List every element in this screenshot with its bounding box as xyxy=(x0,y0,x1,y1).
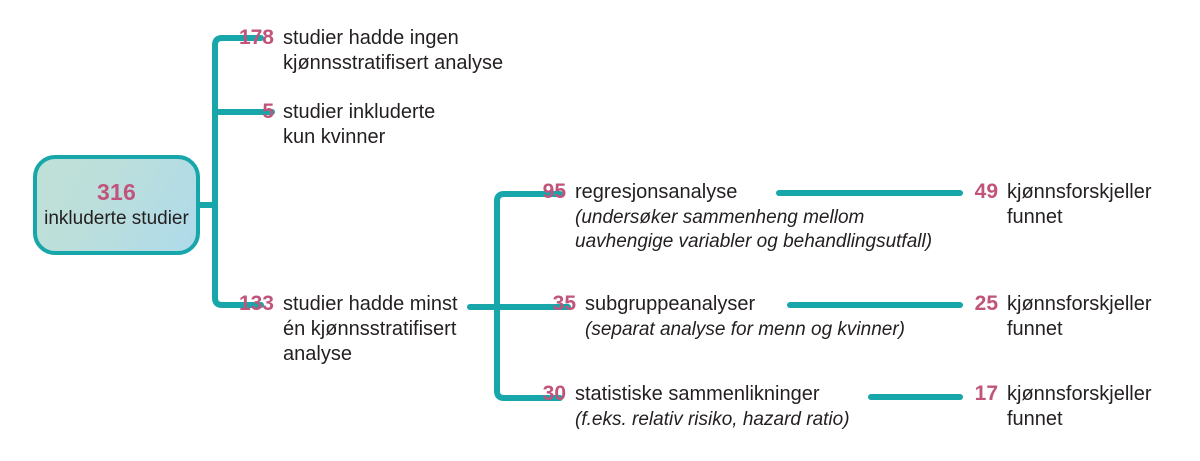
sub-branch-number-30: 30 xyxy=(530,382,566,406)
branch-body-178: studier hadde ingen kjønnsstratifisert a… xyxy=(283,26,528,76)
branch-item-5: 5 studier inkluderte kun kvinner xyxy=(238,100,528,150)
outcome-text-17: kjønnsforskjeller funnet xyxy=(1007,382,1188,432)
branch-number-178: 178 xyxy=(228,26,274,50)
outcome-body-17: kjønnsforskjeller funnet xyxy=(1007,382,1188,432)
left-bracket-path xyxy=(215,38,261,305)
branch-body-5: studier inkluderte kun kvinner xyxy=(283,100,528,150)
sub-branch-number-95: 95 xyxy=(530,180,566,204)
sub-branch-note-30: (f.eks. relativ risiko, hazard ratio) xyxy=(575,408,950,432)
branch-body-133: studier hadde minst én kjønnsstratifiser… xyxy=(283,292,518,367)
sub-branch-text-95: regresjonsanalyse xyxy=(575,180,950,205)
sub-branch-body-95: regresjonsanalyse (undersøker sammenheng… xyxy=(575,180,950,254)
outcome-text-25: kjønnsforskjeller funnet xyxy=(1007,292,1188,342)
branch-text-178: studier hadde ingen kjønnsstratifisert a… xyxy=(283,26,528,76)
sub-branch-item-30: 30 statistiske sammenlikninger (f.eks. r… xyxy=(530,382,950,432)
branch-text-5: studier inkluderte kun kvinner xyxy=(283,100,528,150)
branch-item-178: 178 studier hadde ingen kjønnsstratifise… xyxy=(228,26,528,76)
outcome-number-49: 49 xyxy=(968,180,998,204)
sub-branch-text-30: statistiske sammenlikninger xyxy=(575,382,950,407)
outcome-item-25: 25 kjønnsforskjeller funnet xyxy=(968,292,1188,342)
sub-branch-body-35: subgruppeanalyser (separat analyse for m… xyxy=(585,292,950,342)
branch-item-133: 133 studier hadde minst én kjønnsstratif… xyxy=(228,292,518,367)
outcome-number-25: 25 xyxy=(968,292,998,316)
outcome-text-49: kjønnsforskjeller funnet xyxy=(1007,180,1188,230)
branch-number-5: 5 xyxy=(238,100,274,124)
sub-branch-number-35: 35 xyxy=(540,292,576,316)
sub-branch-note-95: (undersøker sammenheng mellom uavhengige… xyxy=(575,206,950,254)
root-node-included-studies: 316 inkluderte studier xyxy=(33,155,200,255)
outcome-number-17: 17 xyxy=(968,382,998,406)
outcome-body-49: kjønnsforskjeller funnet xyxy=(1007,180,1188,230)
branch-number-133: 133 xyxy=(228,292,274,316)
outcome-item-49: 49 kjønnsforskjeller funnet xyxy=(968,180,1188,230)
outcome-item-17: 17 kjønnsforskjeller funnet xyxy=(968,382,1188,432)
sub-branch-body-30: statistiske sammenlikninger (f.eks. rela… xyxy=(575,382,950,432)
sub-branch-item-35: 35 subgruppeanalyser (separat analyse fo… xyxy=(540,292,950,342)
sub-branch-note-35: (separat analyse for menn og kvinner) xyxy=(585,318,950,342)
root-node-number: 316 xyxy=(97,179,136,207)
root-node-label: inkluderte studier xyxy=(44,208,189,231)
branch-text-133: studier hadde minst én kjønnsstratifiser… xyxy=(283,292,518,367)
sub-branch-item-95: 95 regresjonsanalyse (undersøker sammenh… xyxy=(530,180,950,254)
sub-branch-text-35: subgruppeanalyser xyxy=(585,292,950,317)
flow-diagram: 316 inkluderte studier 178 studier hadde… xyxy=(0,0,1200,461)
outcome-body-25: kjønnsforskjeller funnet xyxy=(1007,292,1188,342)
